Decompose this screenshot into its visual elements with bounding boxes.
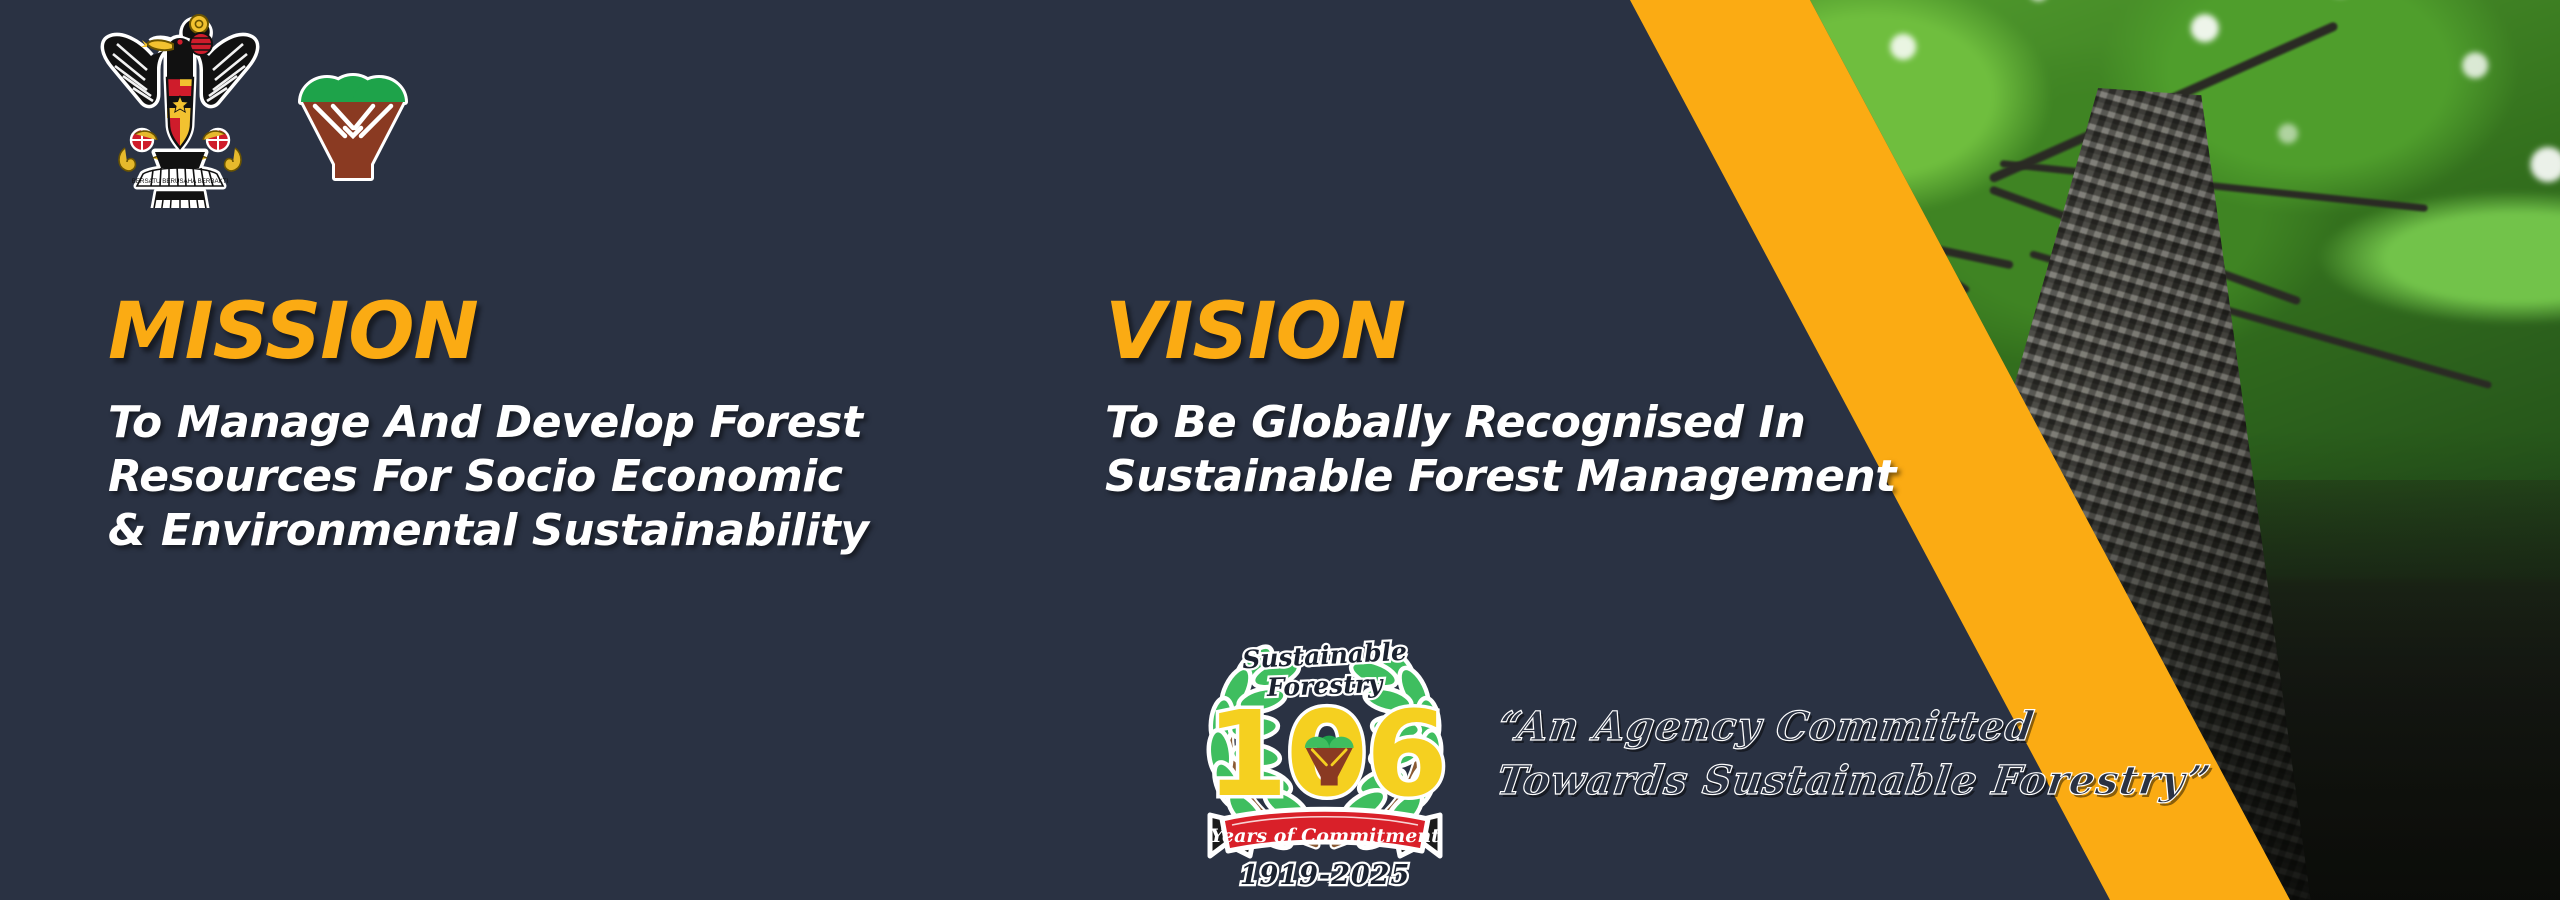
mission-block: MISSION To Manage And Develop Forest Res… — [108, 295, 1028, 558]
vision-block: VISION To Be Globally Recognised In Sust… — [1105, 295, 2065, 504]
mission-vision-banner: BERSATU BERUSAHA BERBAKTI MISS — [0, 0, 2560, 900]
vision-heading: VISION — [1105, 295, 2065, 370]
anniversary-badge: Sustainable Forestry 106 Years of Commit… — [1190, 630, 1460, 895]
mission-line-1: To Manage And Develop Forest — [108, 396, 1028, 450]
sarawak-coat-of-arms-icon: BERSATU BERUSAHA BERBAKTI — [95, 8, 265, 208]
vision-line-2: Sustainable Forest Management — [1105, 450, 2065, 504]
mission-line-3: & Environmental Sustainability — [108, 504, 1028, 558]
tagline: “An Agency Committed Towards Sustainable… — [1487, 700, 2222, 808]
badge-years: 1919-2025 — [1240, 860, 1411, 891]
mission-line-2: Resources For Socio Economic — [108, 450, 1028, 504]
badge-ribbon-text: Years of Commitment — [1210, 825, 1440, 847]
tagline-line-2: Towards Sustainable Forestry” — [1487, 754, 2214, 808]
vision-line-1: To Be Globally Recognised In — [1105, 396, 2065, 450]
vision-text: To Be Globally Recognised In Sustainable… — [1105, 396, 2065, 504]
forest-tree-logo-icon — [293, 32, 413, 182]
crest-motto: BERSATU BERUSAHA BERBAKTI — [132, 178, 229, 185]
mission-text: To Manage And Develop Forest Resources F… — [108, 396, 1028, 558]
tagline-line-1: “An Agency Committed — [1495, 700, 2222, 754]
logo-group: BERSATU BERUSAHA BERBAKTI — [95, 8, 413, 208]
mission-heading: MISSION — [108, 295, 1028, 370]
